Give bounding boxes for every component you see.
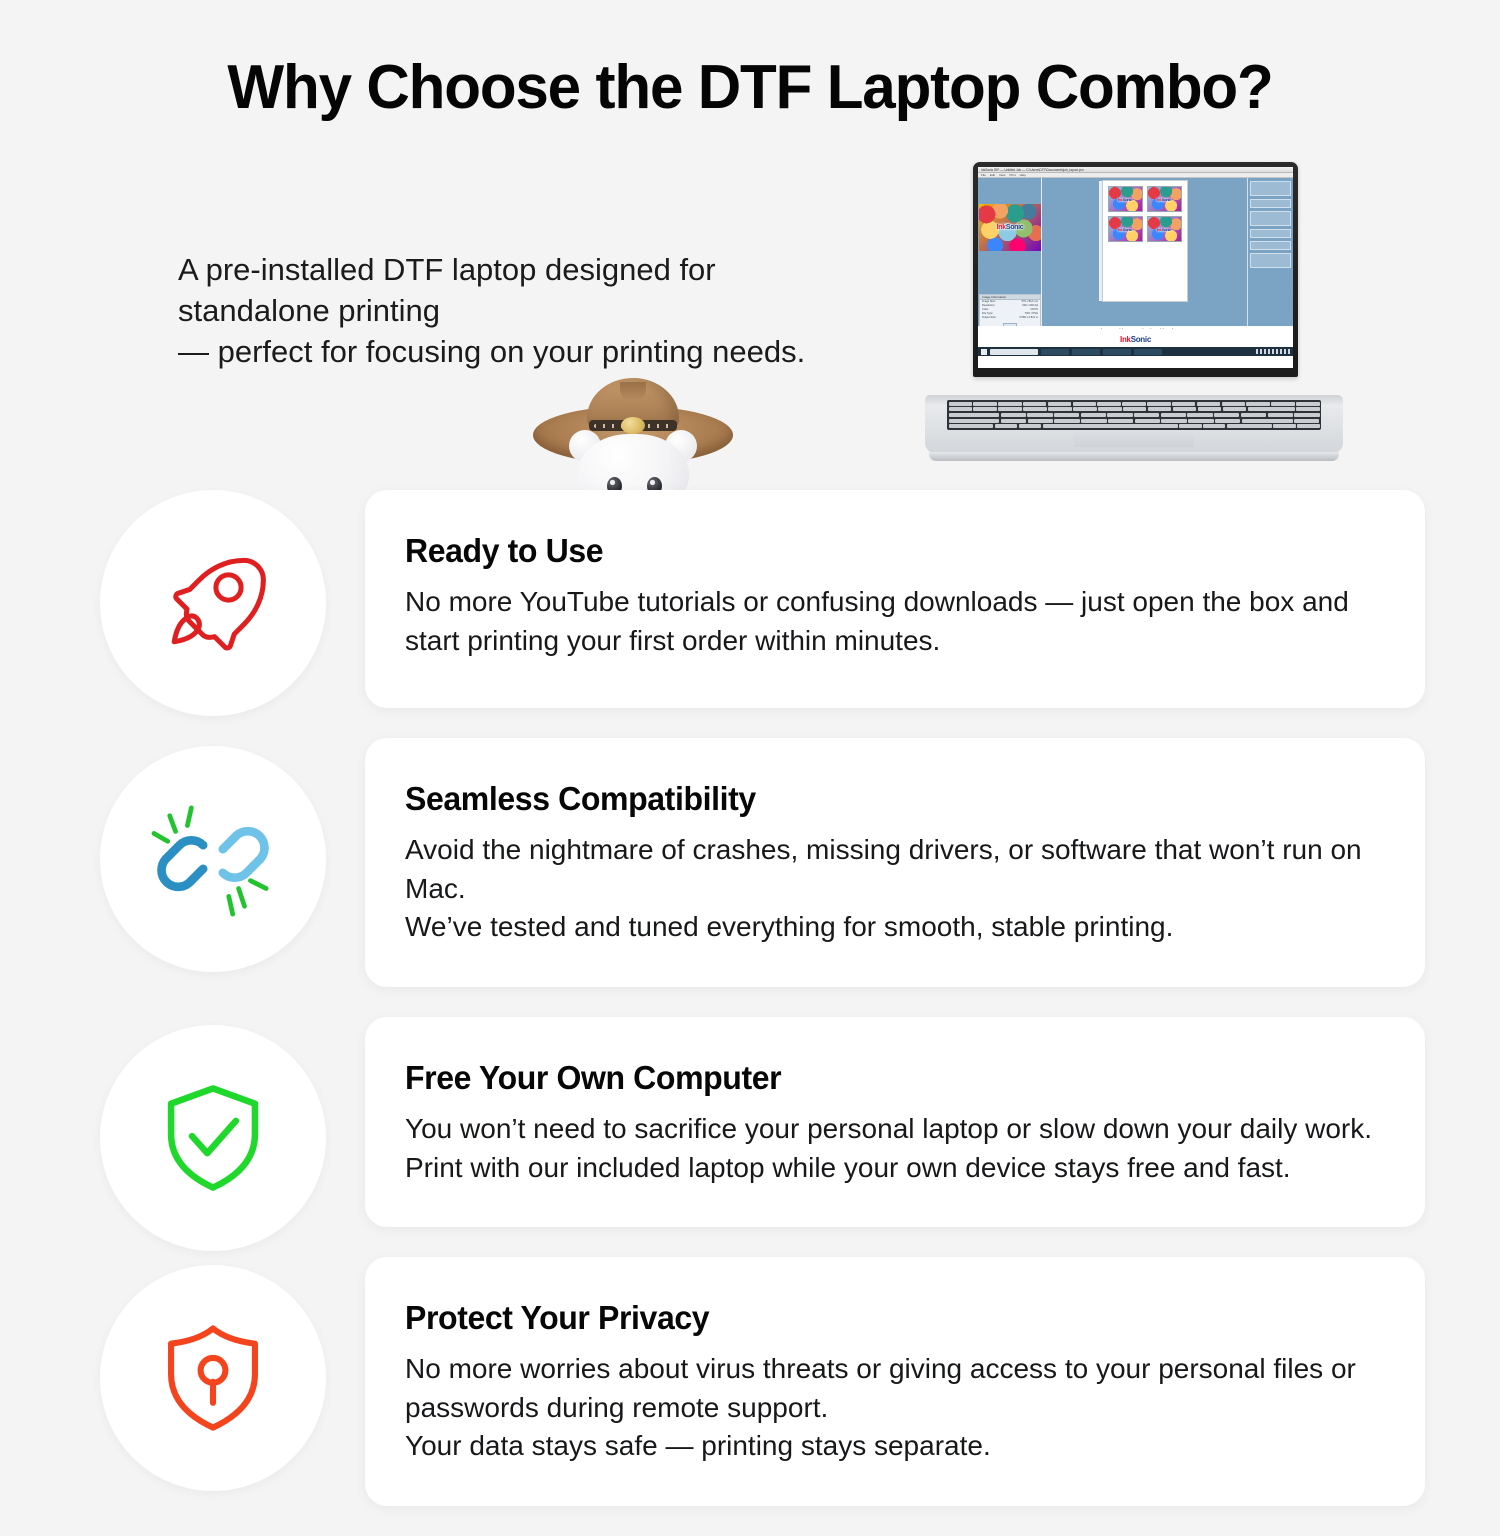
artwork-thumbnail[interactable]: InkSonic [979, 204, 1041, 251]
artwork-tile[interactable]: InkSonic [1147, 186, 1182, 212]
laptop-illustration: InkSonic RIP — Untitled Job — C:\Users\D… [925, 162, 1343, 477]
feature-icon-badge [100, 1265, 326, 1491]
laptop-base [925, 395, 1343, 453]
menu-item-help[interactable]: Help [1020, 173, 1026, 177]
taskbar-search-input[interactable] [990, 349, 1038, 355]
feature-body: Avoid the nightmare of crashes, missing … [405, 831, 1379, 947]
panel-group[interactable] [1250, 211, 1291, 226]
intro-line-2: standalone printing [178, 291, 918, 332]
inksonic-logo-tile: InkSonic [1118, 197, 1132, 202]
feature-row: Seamless Compatibility Avoid the nightma… [0, 738, 1500, 987]
menu-item-file[interactable]: File [981, 173, 986, 177]
feature-body: You won’t need to sacrifice your persona… [405, 1110, 1379, 1187]
panel-group[interactable] [1250, 199, 1291, 208]
menu-item-edit[interactable]: Edit [990, 173, 995, 177]
feature-body: No more YouTube tutorials or confusing d… [405, 583, 1379, 660]
inksonic-watermark: InkSonic [978, 329, 1293, 347]
laptop-keyboard [947, 400, 1321, 430]
intro-line-3: — perfect for focusing on your printing … [178, 332, 918, 373]
laptop-lid: InkSonic RIP — Untitled Job — C:\Users\D… [973, 162, 1298, 377]
feature-list: Ready to Use No more YouTube tutorials o… [0, 490, 1500, 1536]
feature-title: Free Your Own Computer [405, 1059, 1350, 1097]
feature-title: Seamless Compatibility [405, 780, 1350, 818]
cowboy-hat-buckle [621, 417, 645, 434]
artwork-tile[interactable]: InkSonic [1108, 216, 1143, 242]
info-row: Output Size:0.580 x 0.812 m [980, 316, 1040, 320]
taskbar-app-button[interactable] [1103, 349, 1131, 355]
software-workspace: InkSonic Image Information Image Size:57… [978, 178, 1293, 356]
panel-group[interactable] [1250, 229, 1291, 238]
inksonic-logo-thumb: InkSonic [997, 224, 1024, 231]
panel-group[interactable] [1250, 241, 1291, 250]
laptop-foot [929, 452, 1339, 461]
menu-item-view[interactable]: View [999, 173, 1005, 177]
laptop-screen: InkSonic RIP — Untitled Job — C:\Users\D… [978, 167, 1293, 368]
intro-paragraph: A pre-installed DTF laptop designed for … [178, 250, 918, 373]
inksonic-logo-tile: InkSonic [1118, 227, 1132, 232]
feature-row: Protect Your Privacy No more worries abo… [0, 1257, 1500, 1506]
shield-keyhole-icon [152, 1317, 274, 1439]
inksonic-logo-tile: InkSonic [1157, 197, 1171, 202]
artwork-tile-grid: InkSonic InkSonic InkSonic [1108, 186, 1182, 242]
laptop-trackpad [1074, 431, 1194, 447]
windows-taskbar [978, 347, 1293, 356]
taskbar-app-button[interactable] [1072, 349, 1100, 355]
feature-row: Ready to Use No more YouTube tutorials o… [0, 490, 1500, 708]
feature-icon-badge [100, 746, 326, 972]
artwork-tile[interactable]: InkSonic [1108, 186, 1143, 212]
artwork-tile[interactable]: InkSonic [1147, 216, 1182, 242]
feature-card: Free Your Own Computer You won’t need to… [365, 1017, 1425, 1227]
print-sheet[interactable]: InkSonic InkSonic InkSonic [1102, 180, 1188, 302]
feature-icon-badge [100, 1025, 326, 1251]
taskbar-app-button[interactable] [1134, 349, 1162, 355]
feature-row: Free Your Own Computer You won’t need to… [0, 1017, 1500, 1227]
rocket-icon [151, 541, 275, 665]
taskbar-app-button[interactable] [1041, 349, 1069, 355]
feature-title: Protect Your Privacy [405, 1299, 1350, 1337]
vertical-ruler [1099, 181, 1103, 301]
cowboy-hat-dent [620, 382, 646, 402]
feature-icon-badge [100, 490, 326, 716]
page-title: Why Choose the DTF Laptop Combo? [23, 52, 1478, 123]
start-button-icon[interactable] [981, 349, 987, 355]
inksonic-logo-tile: InkSonic [1157, 227, 1171, 232]
chain-link-icon [150, 796, 276, 922]
system-tray-icons[interactable] [1256, 349, 1290, 354]
shield-check-icon [152, 1077, 274, 1199]
panel-group[interactable] [1250, 181, 1291, 196]
feature-card: Ready to Use No more YouTube tutorials o… [365, 490, 1425, 708]
panel-group[interactable] [1250, 253, 1291, 268]
feature-card: Protect Your Privacy No more worries abo… [365, 1257, 1425, 1506]
menu-item-print[interactable]: Print [1009, 173, 1015, 177]
feature-card: Seamless Compatibility Avoid the nightma… [365, 738, 1425, 987]
intro-line-1: A pre-installed DTF laptop designed for [178, 250, 918, 291]
feature-body: No more worries about virus threats or g… [405, 1350, 1379, 1466]
feature-title: Ready to Use [405, 532, 1350, 570]
